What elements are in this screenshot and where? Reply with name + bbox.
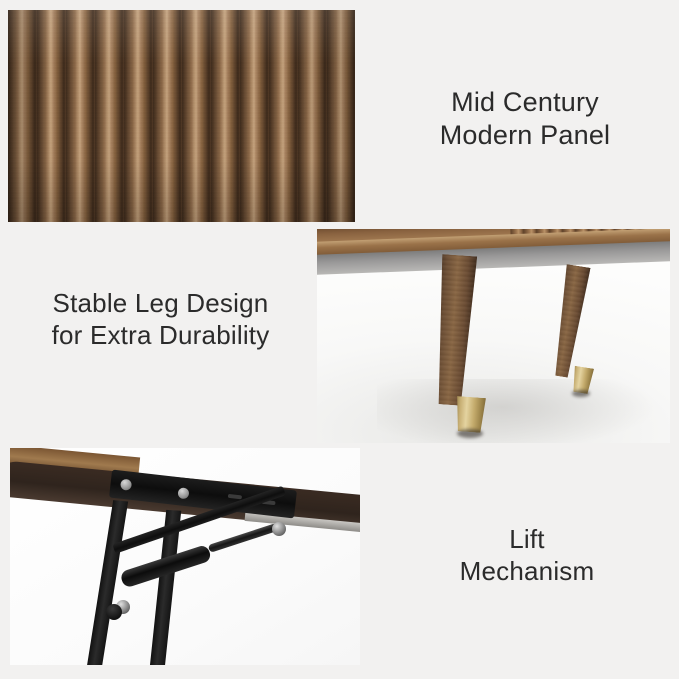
caption-lift-mechanism: Lift Mechanism [392,524,662,587]
leg-foot-shadow-back [572,390,590,397]
floor-shadow [377,379,657,443]
panel-lighting-overlay [8,10,355,222]
strut-pivot-housing [106,604,122,620]
caption-stable-leg-design: Stable Leg Design for Extra Durability [8,288,313,351]
leg-foot-shadow-front [457,429,483,438]
photo-fluted-panel [8,10,355,222]
photo-table-legs [317,229,670,443]
product-feature-collage: Mid Century Modern Panel Stable Leg Desi… [0,0,679,679]
strut-pivot-bolt-upper [272,522,286,536]
hinge-rivet [177,487,189,499]
photo-lift-mechanism [10,448,360,665]
caption-mid-century-modern-panel: Mid Century Modern Panel [380,86,670,152]
hinge-bolt-slot [228,494,242,500]
hinge-rivet [120,479,132,491]
